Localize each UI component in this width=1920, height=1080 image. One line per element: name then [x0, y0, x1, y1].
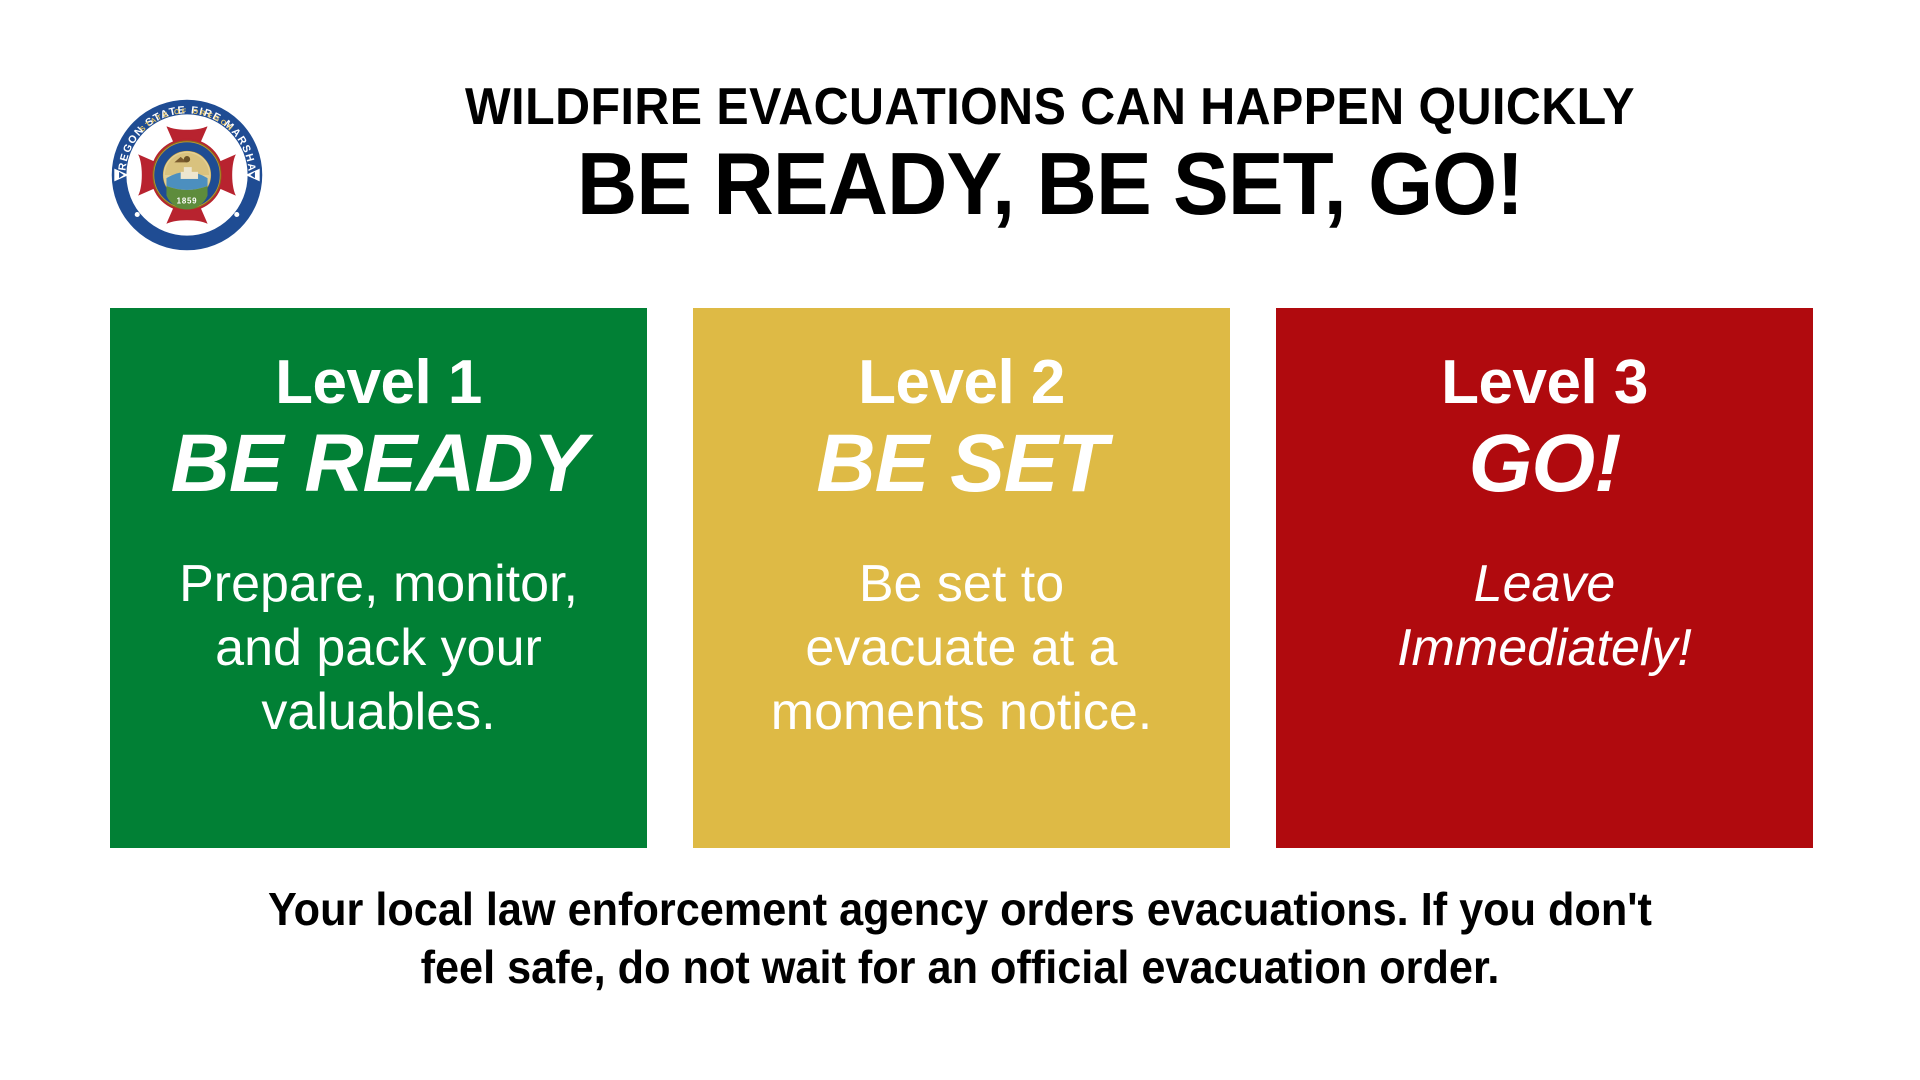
panel-level-1: Level 1 BE READY Prepare, monitor, and p… [110, 308, 647, 848]
panel-level-1-action: BE READY [171, 420, 587, 508]
panel-level-2-action: BE SET [816, 420, 1106, 508]
poster-canvas: OREGON STATE FIRE MARSHAL SERVING SINCE … [0, 0, 1920, 1080]
panel-level-3-action: GO! [1469, 420, 1621, 508]
panel-level-2: Level 2 BE SET Be set to evacuate at a m… [693, 308, 1230, 848]
panel-level-1-description: Prepare, monitor, and pack your valuable… [164, 552, 594, 744]
panel-level-1-level: Level 1 [275, 348, 482, 418]
svg-text:1859: 1859 [177, 196, 198, 205]
panel-level-2-description: Be set to evacuate at a moments notice. [747, 552, 1177, 744]
headline-secondary: BE READY, BE SET, GO! [309, 138, 1791, 230]
footer-line-1: Your local law enforcement agency orders… [152, 880, 1769, 938]
headline-block: WILDFIRE EVACUATIONS CAN HAPPEN QUICKLY … [270, 78, 1830, 230]
footer-line-2: feel safe, do not wait for an official e… [152, 938, 1769, 996]
poster-footer: Your local law enforcement agency orders… [100, 880, 1820, 996]
panel-level-2-level: Level 2 [858, 348, 1065, 418]
panel-level-3-description: Leave Immediately! [1330, 552, 1760, 680]
oregon-state-fire-marshal-seal-icon: OREGON STATE FIRE MARSHAL SERVING SINCE … [108, 96, 266, 254]
poster-header: OREGON STATE FIRE MARSHAL SERVING SINCE … [0, 78, 1920, 238]
evacuation-level-panels: Level 1 BE READY Prepare, monitor, and p… [110, 308, 1813, 848]
panel-level-3-level: Level 3 [1441, 348, 1648, 418]
headline-primary: WILDFIRE EVACUATIONS CAN HAPPEN QUICKLY [325, 78, 1776, 136]
panel-level-3: Level 3 GO! Leave Immediately! [1276, 308, 1813, 848]
